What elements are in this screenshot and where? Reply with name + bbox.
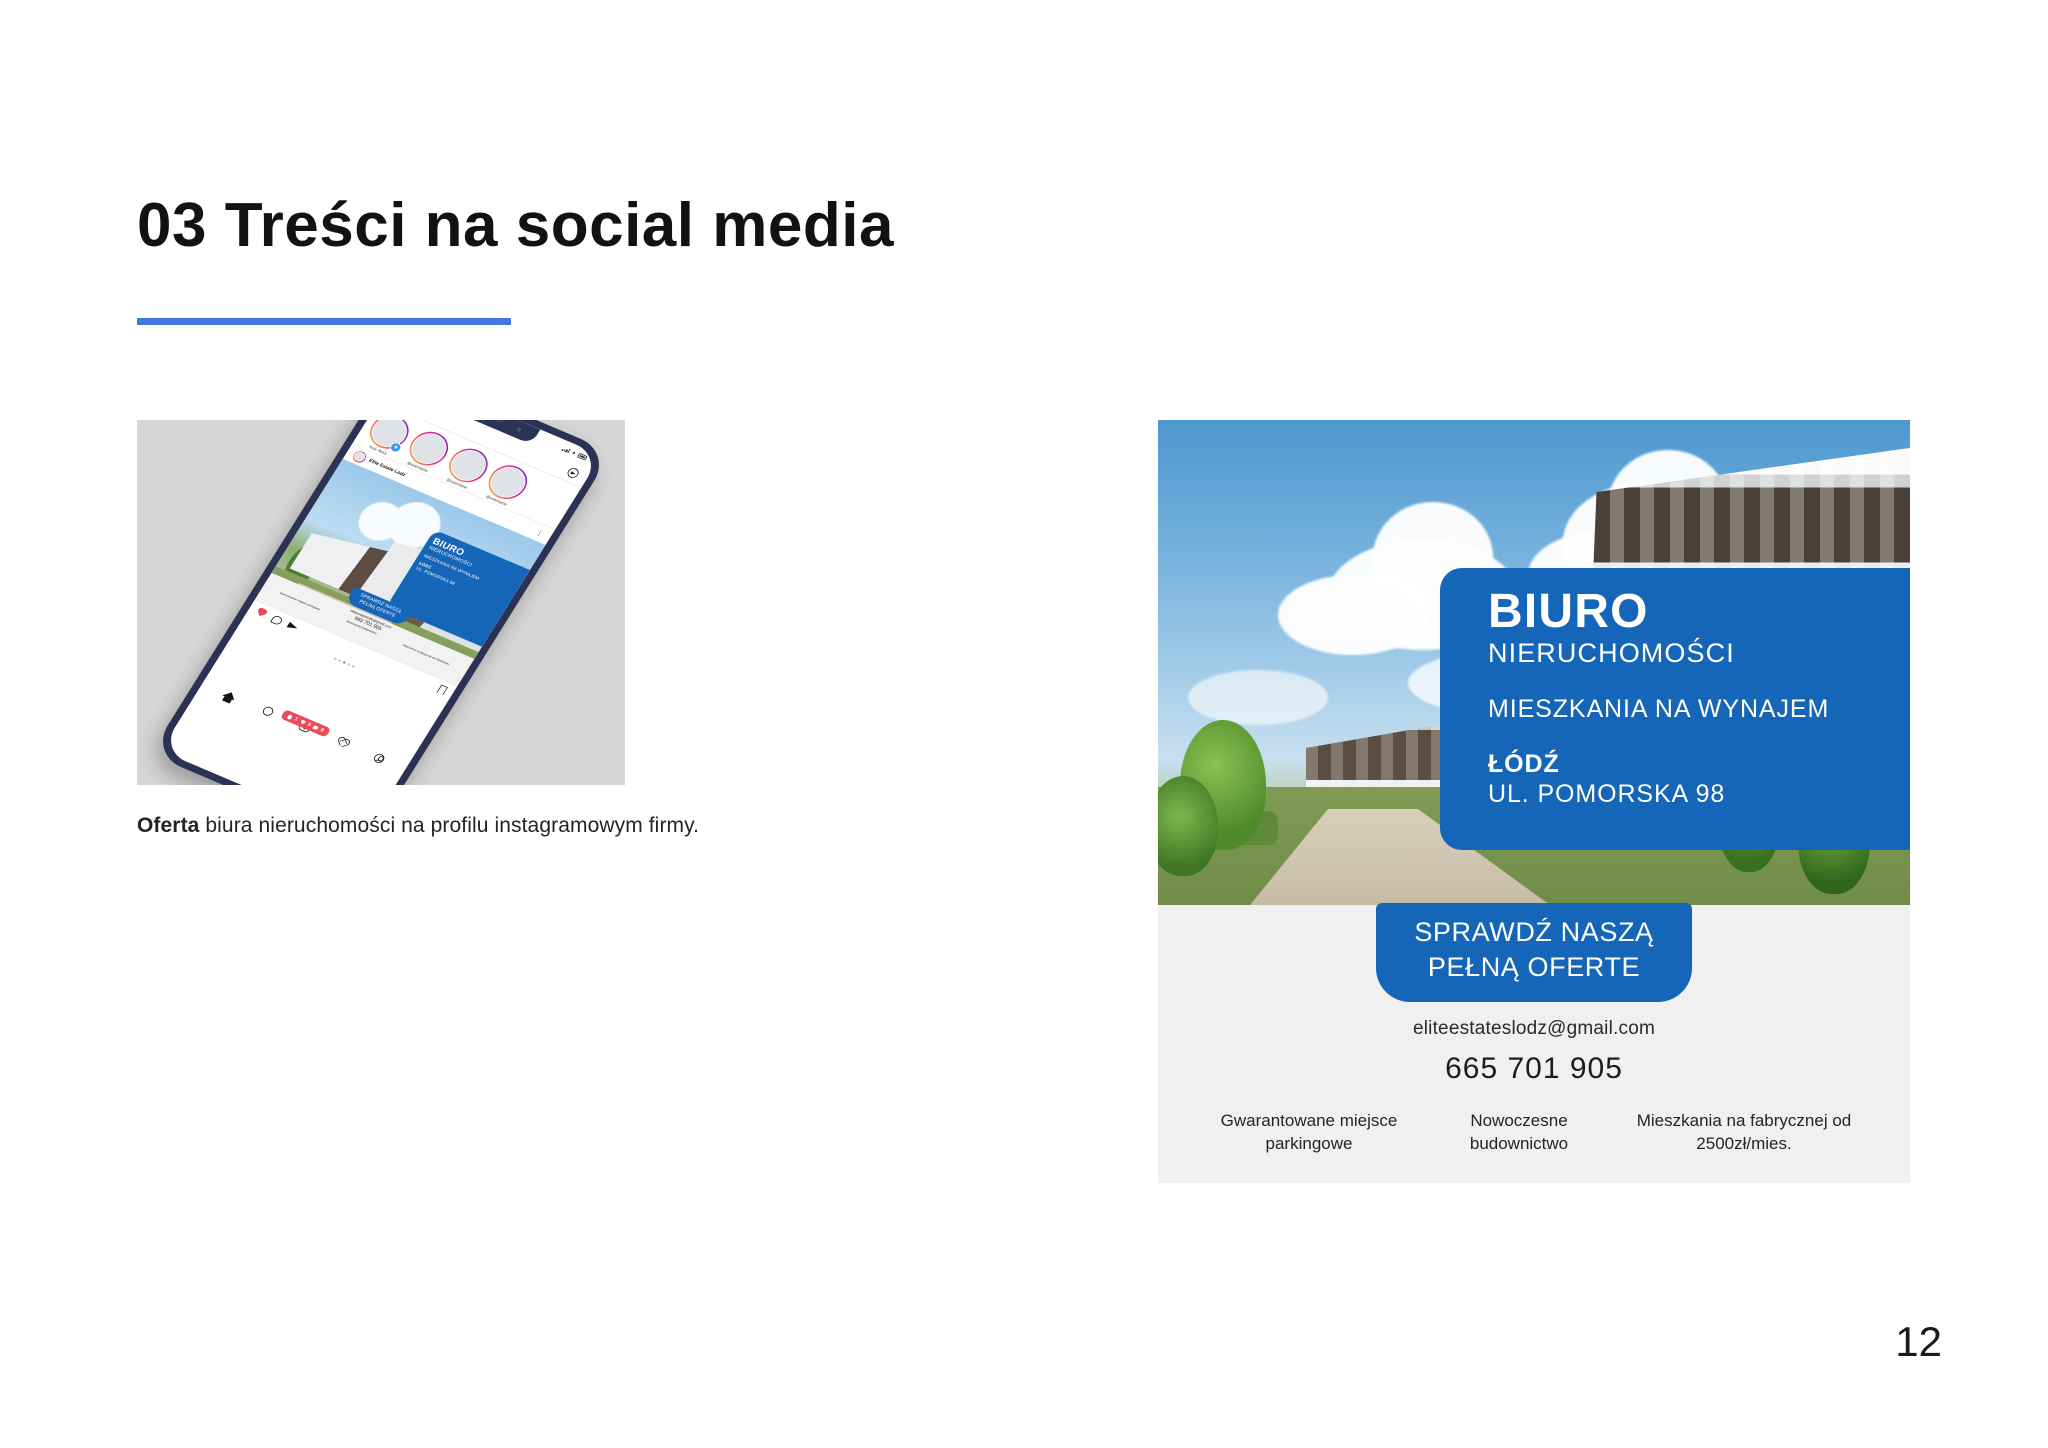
feature-item: Gwarantowane miejsce parkingowe: [1184, 1110, 1434, 1156]
wifi-icon: ▲: [570, 450, 577, 456]
poster-line-lodz: ŁÓDŹ: [1488, 749, 1910, 780]
poster-line-nieruchomosci: NIERUCHOMOŚCI: [1488, 639, 1910, 668]
poster-graphic: BIURO NIERUCHOMOŚCI MIESZKANIA NA WYNAJE…: [1158, 420, 1910, 1183]
activity-heart-icon[interactable]: [335, 736, 350, 748]
page-number: 12: [1895, 1318, 1942, 1366]
person-icon: [287, 714, 293, 719]
cta-line-2: PEŁNĄ OFERTE: [1376, 950, 1692, 985]
poster-line-ulica: UL. POMORSKA 98: [1488, 779, 1910, 810]
title-underline-rule: [137, 318, 511, 325]
poster-photo: BIURO NIERUCHOMOŚCI MIESZKANIA NA WYNAJE…: [1158, 420, 1910, 905]
cta-line-1: SPRAWDŹ NASZĄ: [1376, 915, 1692, 950]
poster-phone[interactable]: 665 701 905: [1158, 1052, 1910, 1086]
carousel-dot: [347, 662, 351, 665]
more-options-icon[interactable]: ⋮: [534, 527, 546, 537]
cloud: [1188, 670, 1328, 725]
badge-count-likes: 1: [293, 716, 299, 722]
notification-badge: 1 5 8: [280, 709, 331, 737]
carousel-dot-active: [342, 660, 346, 663]
battery-icon: [577, 453, 588, 460]
avatar: [351, 449, 369, 464]
poster-email[interactable]: eliteestateslodz@gmail.com: [1158, 1018, 1910, 1040]
page-title: 03 Treści na social media: [137, 190, 894, 261]
cloud: [1278, 575, 1428, 655]
home-icon[interactable]: [222, 689, 237, 699]
poster-line-mieszkania: MIESZKANIA NA WYNAJEM: [1488, 694, 1910, 725]
like-icon[interactable]: [254, 606, 269, 618]
bookmark-icon[interactable]: [436, 684, 448, 695]
mockup-caption-bold: Oferta: [137, 814, 199, 837]
badge-count-hearts: 5: [306, 722, 312, 728]
front-camera-icon: [516, 426, 522, 431]
feature-item: Nowoczesne budownictwo: [1434, 1110, 1604, 1156]
badge-count-followers: 8: [319, 727, 325, 733]
carousel-dot: [351, 664, 355, 667]
phone-screen: 10:21 ▲ Instagram +: [160, 420, 601, 785]
phone-body: 10:21 ▲ Instagram +: [150, 420, 612, 785]
comment-icon[interactable]: [270, 614, 284, 625]
follower-icon: [312, 725, 318, 730]
poster-cta-button[interactable]: SPRAWDŹ NASZĄ PEŁNĄ OFERTE: [1376, 903, 1692, 1002]
poster-blue-panel: BIURO NIERUCHOMOŚCI MIESZKANIA NA WYNAJE…: [1440, 568, 1910, 850]
share-icon[interactable]: [287, 621, 299, 630]
direct-message-icon[interactable]: [566, 466, 581, 479]
carousel-dot: [333, 657, 337, 660]
carousel-dot: [338, 658, 342, 661]
phone-mockup: 10:21 ▲ Instagram +: [150, 420, 612, 785]
profile-icon[interactable]: [373, 752, 387, 764]
heart-icon: [299, 719, 306, 725]
mockup-caption-rest: biura nieruchomości na profilu instagram…: [199, 814, 699, 837]
signal-icon: [562, 446, 571, 453]
phone-mockup-panel: 10:21 ▲ Instagram +: [137, 420, 625, 785]
status-indicators: ▲: [562, 446, 588, 460]
feature-item: Mieszkania na fabrycznej od 2500zł/mies.: [1604, 1110, 1884, 1156]
mockup-caption: Oferta biura nieruchomości na profilu in…: [137, 814, 699, 838]
poster-line-biuro: BIURO: [1488, 588, 1910, 637]
poster-features: Gwarantowane miejsce parkingowe Nowoczes…: [1184, 1110, 1884, 1156]
search-icon[interactable]: [261, 704, 275, 716]
